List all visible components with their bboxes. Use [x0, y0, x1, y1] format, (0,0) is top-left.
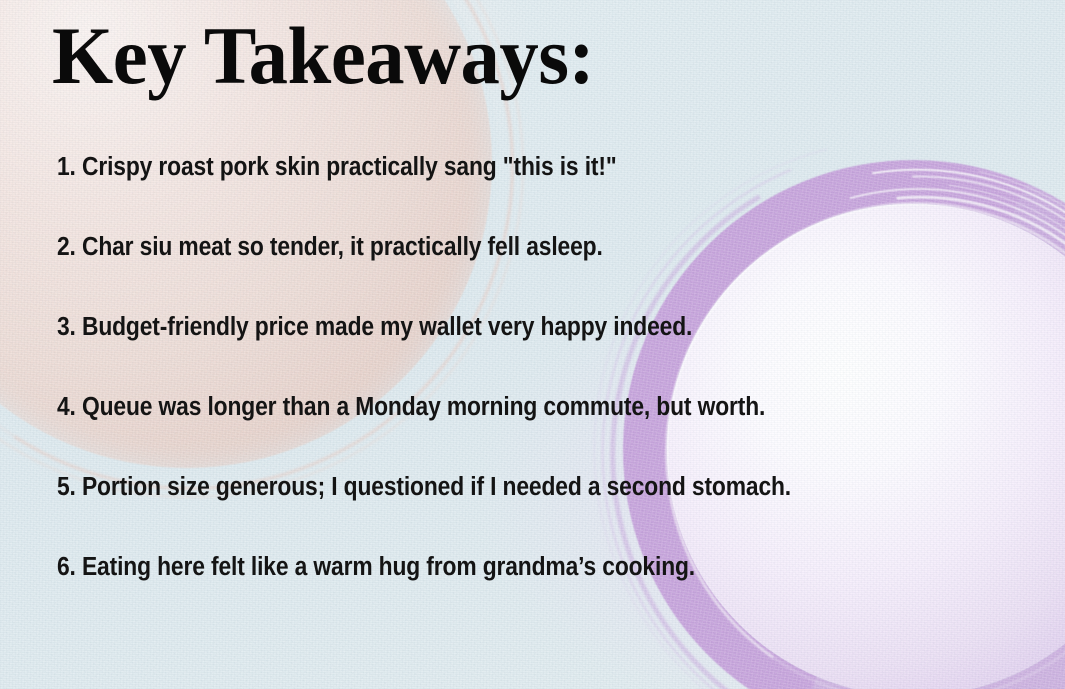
takeaway-item-4: 4. Queue was longer than a Monday mornin… — [57, 392, 916, 472]
takeaway-item-5: 5. Portion size generous; I questioned i… — [57, 472, 916, 552]
takeaway-list: 1. Crispy roast pork skin practically sa… — [57, 152, 1017, 632]
text-content: Key Takeaways: 1. Crispy roast pork skin… — [0, 0, 1065, 689]
page-title: Key Takeaways: — [52, 14, 594, 98]
takeaway-item-3: 3. Budget-friendly price made my wallet … — [57, 312, 916, 392]
takeaways-graphic-canvas: Key Takeaways: 1. Crispy roast pork skin… — [0, 0, 1065, 689]
takeaway-item-1: 1. Crispy roast pork skin practically sa… — [57, 152, 916, 232]
takeaway-item-2: 2. Char siu meat so tender, it practical… — [57, 232, 916, 312]
takeaway-item-6: 6. Eating here felt like a warm hug from… — [57, 552, 916, 632]
